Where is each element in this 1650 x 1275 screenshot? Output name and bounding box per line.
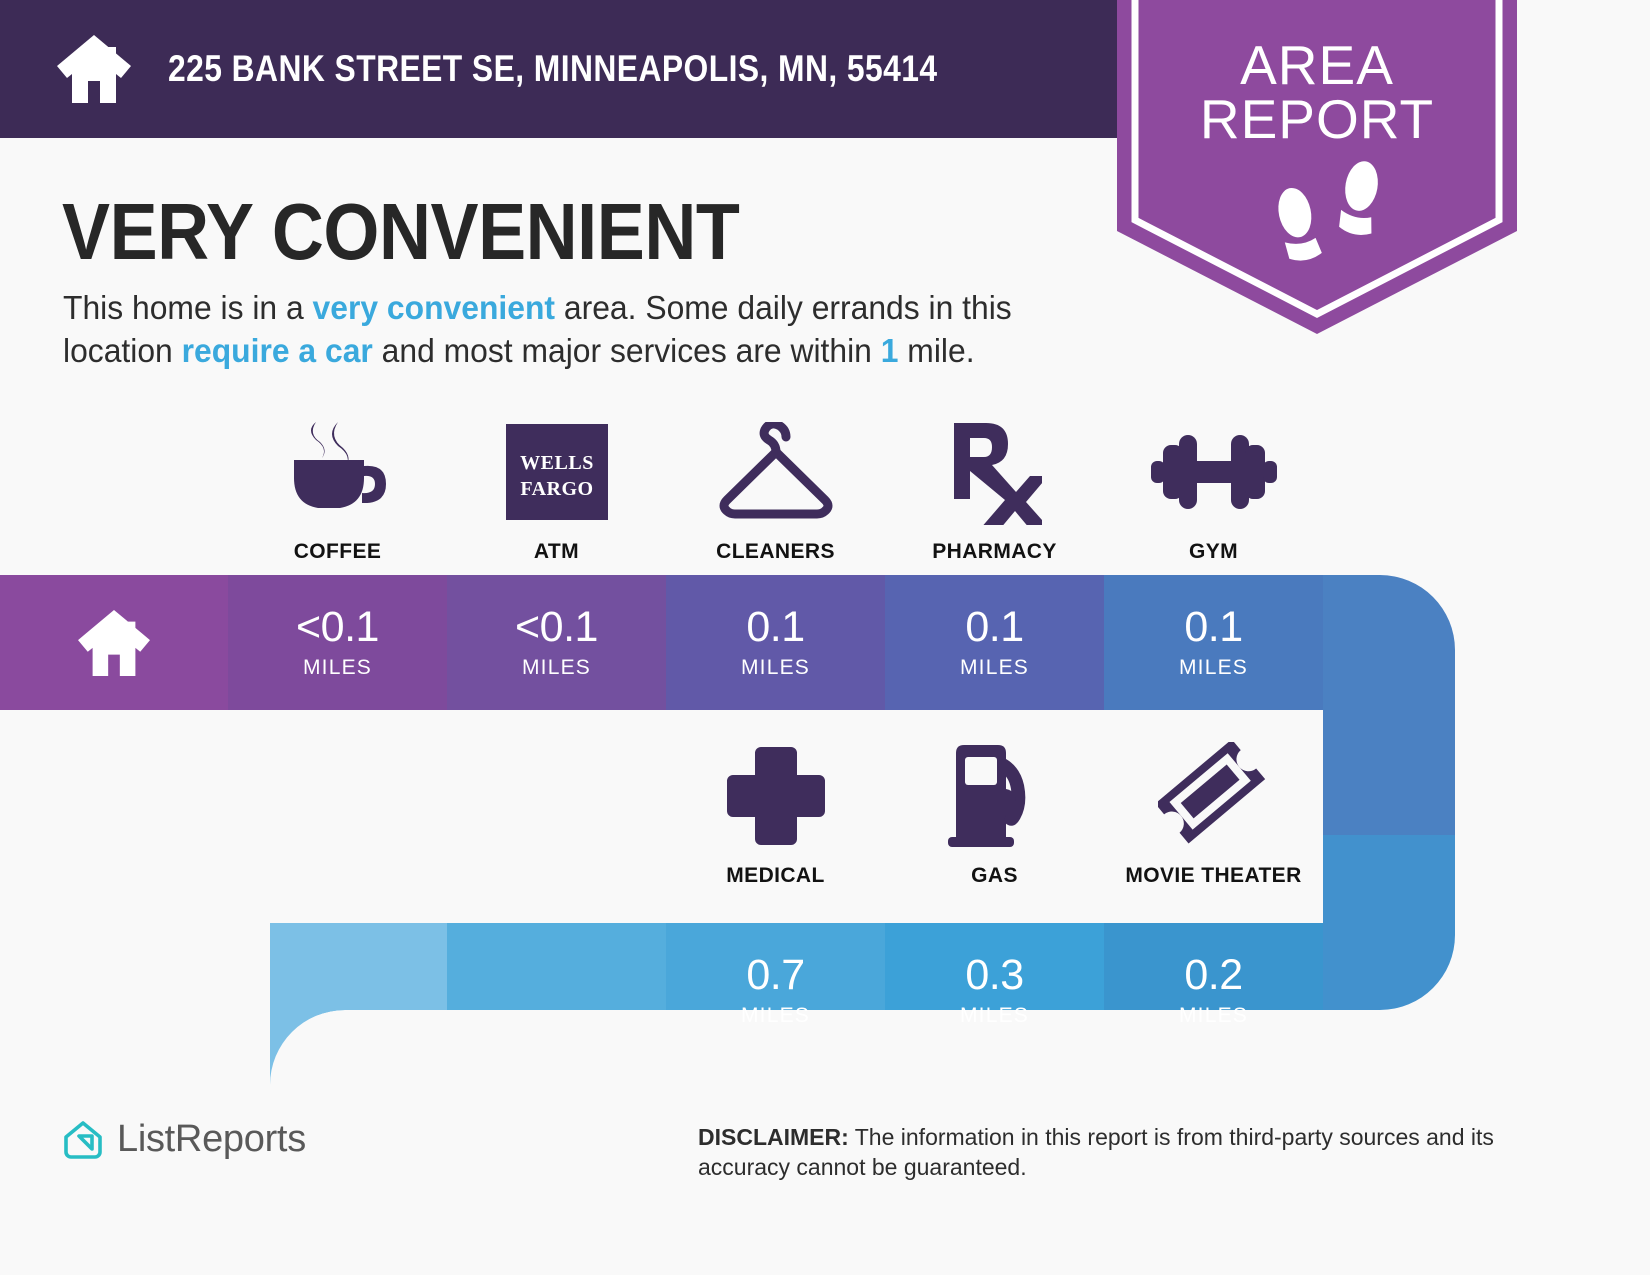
amenity-atm[interactable]: WELLS FARGO ATM: [447, 418, 666, 564]
distance-value: <0.1: [515, 606, 598, 649]
amenity-label: ATM: [534, 540, 579, 564]
highlight-transport: require a car: [182, 332, 373, 369]
distance-value: 0.1: [746, 606, 804, 649]
amenity-label: GAS: [971, 864, 1018, 888]
amenity-icon-row-1: COFFEE WELLS FARGO ATM CLEANERS PHARMACY: [228, 418, 1323, 564]
amenity-label: GYM: [1189, 540, 1238, 564]
page-title: VERY CONVENIENT: [62, 186, 739, 278]
area-report-badge: AREA REPORT: [1117, 0, 1517, 336]
distance-unit: MILES: [522, 656, 591, 680]
home-marker-cell: [0, 575, 228, 710]
logo-text: ListReports: [117, 1118, 306, 1161]
distance-value: <0.1: [296, 606, 379, 649]
rx-icon: [948, 418, 1042, 526]
distance-unit: MILES: [960, 656, 1029, 680]
wells-fargo-logo: WELLS FARGO: [506, 418, 608, 526]
amenity-label: COFFEE: [294, 540, 382, 564]
distance-unit: MILES: [741, 656, 810, 680]
listreports-logo[interactable]: ListReports: [62, 1118, 306, 1161]
coffee-cup-icon: [286, 418, 390, 526]
distance-value: 0.1: [1184, 606, 1242, 649]
amenity-medical[interactable]: MEDICAL: [666, 742, 885, 888]
home-icon: [76, 608, 152, 678]
distance-cell-gym: 0.1 MILES: [1104, 575, 1323, 710]
distance-values-row-1: <0.1 MILES <0.1 MILES 0.1 MILES 0.1 MILE…: [228, 575, 1323, 710]
amenity-label: PHARMACY: [932, 540, 1057, 564]
distance-value: 0.2: [1184, 954, 1242, 997]
distance-cell-gas: 0.3 MILES: [885, 923, 1104, 1058]
disclaimer: DISCLAIMER: The information in this repo…: [698, 1122, 1508, 1183]
summary-part-1: This home is in a: [63, 289, 313, 326]
svg-text:WELLS: WELLS: [520, 452, 594, 474]
svg-text:REPORT: REPORT: [1200, 88, 1434, 150]
distance-cell-movie-theater: 0.2 MILES: [1104, 923, 1323, 1058]
distance-unit: MILES: [303, 656, 372, 680]
distance-unit: MILES: [741, 1004, 810, 1028]
svg-text:AREA: AREA: [1240, 34, 1394, 96]
dumbbell-icon: [1151, 418, 1277, 526]
distance-value: 0.7: [746, 954, 804, 997]
distance-value: 0.1: [965, 606, 1023, 649]
home-icon: [55, 33, 133, 105]
amenity-pharmacy[interactable]: PHARMACY: [885, 418, 1104, 564]
distance-value: 0.3: [965, 954, 1023, 997]
property-address: 225 BANK STREET SE, MINNEAPOLIS, MN, 554…: [168, 48, 938, 90]
distance-cell-atm: <0.1 MILES: [447, 575, 666, 710]
distance-cell-medical: 0.7 MILES: [666, 923, 885, 1058]
amenity-label: MOVIE THEATER: [1125, 864, 1301, 888]
clothes-hanger-icon: [717, 418, 835, 526]
listreports-house-icon: [62, 1119, 104, 1161]
summary-description: This home is in a very convenient area. …: [63, 287, 1081, 373]
distance-unit: MILES: [1179, 656, 1248, 680]
amenity-label: MEDICAL: [726, 864, 824, 888]
amenity-coffee[interactable]: COFFEE: [228, 418, 447, 564]
gas-pump-icon: [946, 742, 1044, 850]
amenity-icon-row-2: MEDICAL GAS MOVIE THEATER: [666, 742, 1323, 888]
amenity-movie-theater[interactable]: MOVIE THEATER: [1104, 742, 1323, 888]
distance-cell-pharmacy: 0.1 MILES: [885, 575, 1104, 710]
amenity-cleaners[interactable]: CLEANERS: [666, 418, 885, 564]
summary-part-4: mile.: [898, 332, 974, 369]
medical-cross-icon: [727, 742, 825, 850]
summary-part-3: and most major services are within: [373, 332, 881, 369]
amenity-label: CLEANERS: [716, 540, 835, 564]
header-bar: 225 BANK STREET SE, MINNEAPOLIS, MN, 554…: [0, 0, 1133, 138]
distance-cell-cleaners: 0.1 MILES: [666, 575, 885, 710]
distance-unit: MILES: [1179, 1004, 1248, 1028]
highlight-convenience: very convenient: [313, 289, 555, 326]
distance-cell-coffee: <0.1 MILES: [228, 575, 447, 710]
distance-values-row-2: 0.7 MILES 0.3 MILES 0.2 MILES: [666, 923, 1323, 1058]
amenity-gym[interactable]: GYM: [1104, 418, 1323, 564]
movie-ticket-icon: [1158, 742, 1270, 850]
svg-text:FARGO: FARGO: [520, 478, 593, 500]
highlight-distance: 1: [881, 332, 899, 369]
amenity-gas[interactable]: GAS: [885, 742, 1104, 888]
disclaimer-label: DISCLAIMER:: [698, 1124, 849, 1150]
distance-unit: MILES: [960, 1004, 1029, 1028]
